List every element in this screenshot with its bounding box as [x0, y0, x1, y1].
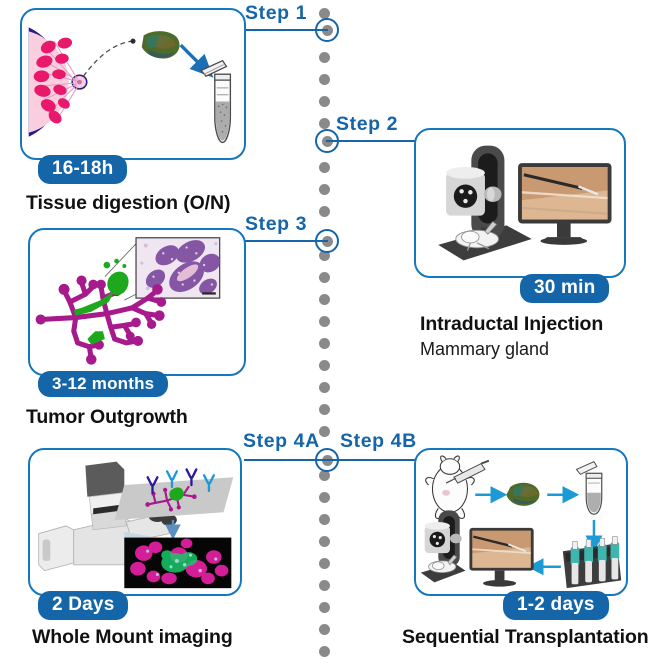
caption-step1: Tissue digestion (O/N): [26, 192, 230, 215]
badge-step4a: 2 Days: [38, 591, 128, 620]
step-label-step4b: Step 4B: [340, 430, 417, 453]
step-label-step1: Step 1: [245, 2, 307, 25]
timeline-dot: [319, 338, 330, 349]
subcaption-step2: Mammary gland: [420, 339, 549, 360]
timeline-dot: [319, 426, 330, 437]
timeline-dot: [319, 514, 330, 525]
timeline-dot: [319, 624, 330, 635]
illustration-tumor-outgrowth: [30, 230, 244, 374]
step-label-step3: Step 3: [245, 213, 307, 236]
timeline-dot: [319, 492, 330, 503]
badge-step4b: 1-2 days: [503, 591, 609, 620]
caption-step4a: Whole Mount imaging: [32, 626, 233, 649]
timeline-dot: [319, 162, 330, 173]
caption-step3: Tumor Outgrowth: [26, 406, 188, 429]
panel-step3: [28, 228, 246, 376]
timeline-dot: [319, 272, 330, 283]
step-label-step4a: Step 4A: [243, 430, 320, 453]
panel-step4a: [28, 448, 242, 596]
timeline-dot: [319, 52, 330, 63]
caption-step4b: Sequential Transplantation: [402, 626, 649, 649]
connector-step2: [326, 140, 416, 142]
timeline-dot: [319, 360, 330, 371]
badge-step3: 3-12 months: [38, 371, 168, 397]
timeline-dot: [319, 294, 330, 305]
timeline-dot: [319, 74, 330, 85]
timeline-dot: [319, 536, 330, 547]
timeline-dot: [319, 602, 330, 613]
connector-step1: [244, 29, 328, 31]
illustration-sequential-transplantation: [416, 450, 626, 594]
timeline-dot: [319, 382, 330, 393]
timeline-dot: [319, 558, 330, 569]
timeline-dot: [319, 580, 330, 591]
badge-step2: 30 min: [520, 274, 609, 303]
step-label-step2: Step 2: [336, 113, 398, 136]
timeline: [316, 0, 334, 664]
panel-step2: [414, 128, 626, 278]
badge-step1: 16-18h: [38, 155, 127, 184]
timeline-dot: [319, 184, 330, 195]
panel-step4b: [414, 448, 628, 596]
caption-step2: Intraductal Injection: [420, 313, 603, 336]
timeline-dot: [319, 206, 330, 217]
timeline-dot: [319, 96, 330, 107]
timeline-dot: [319, 118, 330, 129]
illustration-tissue-digestion: [22, 10, 244, 158]
illustration-whole-mount-imaging: [30, 450, 240, 594]
connector-step4b: [326, 459, 416, 461]
illustration-intraductal-injection: [416, 130, 624, 276]
panel-step1: [20, 8, 246, 160]
timeline-dot: [319, 404, 330, 415]
timeline-dot: [319, 646, 330, 657]
timeline-dot: [319, 316, 330, 327]
connector-step3: [244, 240, 328, 242]
connector-step4a: [244, 459, 328, 461]
